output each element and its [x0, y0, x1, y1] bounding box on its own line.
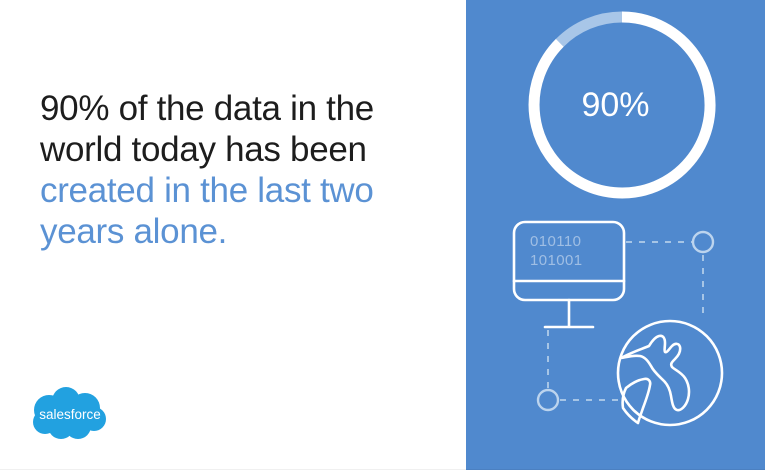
logo-wordmark: salesforce [39, 407, 101, 422]
globe-landmass-main [621, 336, 689, 410]
left-content-panel: 90% of the data in the world today has b… [0, 0, 466, 470]
infographic-card: 90% of the data in the world today has b… [0, 0, 765, 470]
network-node-lower-icon [538, 390, 558, 410]
salesforce-logo[interactable]: salesforce [28, 386, 112, 442]
globe-outline [618, 321, 722, 425]
headline-line-3: created in the last two [40, 171, 374, 210]
network-node-upper-icon [693, 232, 713, 252]
donut-slice-remainder [560, 17, 622, 43]
binary-line-2: 101001 [530, 251, 640, 270]
headline-line-2: world today has been [40, 130, 367, 169]
headline-line-4: years alone. [40, 212, 227, 251]
cloud-logo-icon: salesforce [28, 386, 112, 442]
donut-center-label: 90% [466, 86, 765, 125]
headline-line-1: 90% of the data in the [40, 89, 374, 128]
headline: 90% of the data in the world today has b… [40, 88, 440, 252]
monitor-binary-text: 010110 101001 [530, 232, 640, 270]
binary-line-1: 010110 [530, 232, 640, 251]
right-graphic-panel: 90% 010110 101001 [466, 0, 765, 470]
globe-icon [618, 321, 722, 425]
